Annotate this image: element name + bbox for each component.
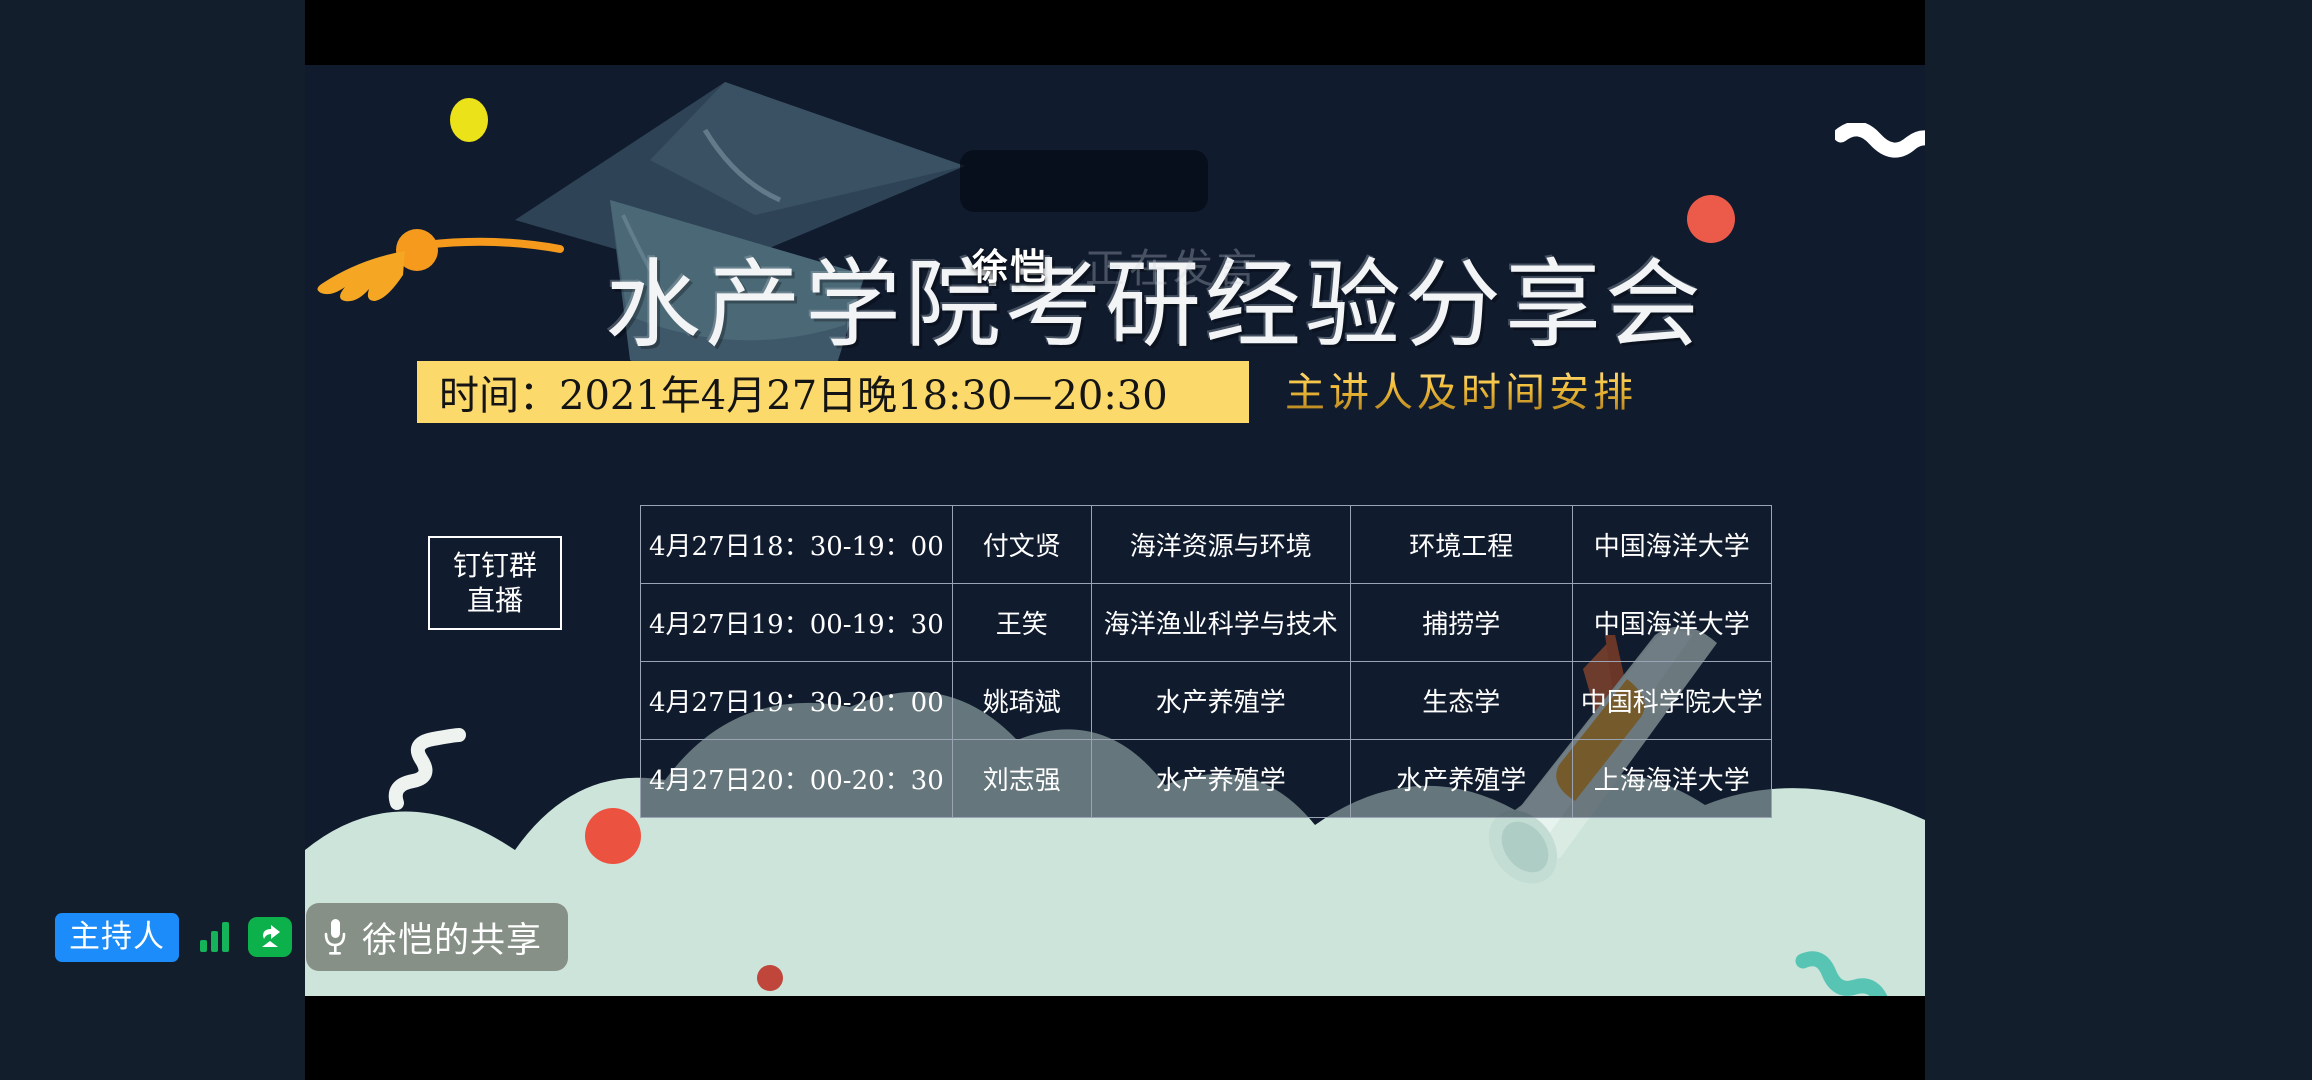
screen-share-status-pill[interactable]: 徐恺的共享 — [306, 903, 568, 971]
schedule-cell-time: 4月27日18：30-19：00 — [641, 506, 953, 584]
schedule-cell-name: 姚琦斌 — [952, 662, 1091, 740]
squiggle-decoration-top-right — [1835, 123, 1925, 183]
screen-share-icon[interactable] — [248, 917, 292, 957]
schedule-cell-name: 刘志强 — [952, 740, 1091, 818]
tassel-icon — [305, 215, 565, 305]
meeting-status-bar: 主持人 徐恺的共享 — [55, 903, 568, 971]
speaking-status-text: 正在发言 — [1085, 236, 1261, 294]
share-owner-label: 徐恺的共享 — [362, 912, 542, 963]
table-row: 4月27日19：30-20：00姚琦斌水产养殖学生态学中国科学院大学 — [641, 662, 1772, 740]
table-row: 4月27日19：00-19：30王笑海洋渔业科学与技术捕捞学中国海洋大学 — [641, 584, 1772, 662]
squiggle-decoration-middle — [385, 725, 475, 815]
schedule-cell-major: 海洋资源与环境 — [1091, 506, 1350, 584]
section-heading: 主讲人及时间安排 — [1285, 360, 1637, 418]
schedule-cell-name: 王笑 — [952, 584, 1091, 662]
time-banner: 时间：2021年4月27日晚18:30—20:30 — [417, 361, 1249, 423]
schedule-cell-name: 付文贤 — [952, 506, 1091, 584]
live-box-line1: 钉钉群 — [453, 548, 537, 583]
live-stream-box: 钉钉群 直播 — [428, 536, 562, 630]
schedule-cell-school: 中国科学院大学 — [1572, 662, 1771, 740]
schedule-cell-field: 水产养殖学 — [1350, 740, 1572, 818]
schedule-cell-major: 水产养殖学 — [1091, 662, 1350, 740]
schedule-cell-field: 捕捞学 — [1350, 584, 1572, 662]
red-dot-decoration-cloud — [585, 808, 641, 864]
schedule-cell-time: 4月27日19：30-20：00 — [641, 662, 953, 740]
schedule-cell-major: 海洋渔业科学与技术 — [1091, 584, 1350, 662]
red-dot-decoration-top — [1687, 195, 1735, 243]
meeting-window: 水产学院考研经验分享会 时间：2021年4月27日晚18:30—20:30 主讲… — [0, 0, 2312, 1080]
speaker-name-label: 徐恺 — [972, 238, 1048, 290]
schedule-cell-time: 4月27日19：00-19：30 — [641, 584, 953, 662]
speaker-name-chip-background — [960, 150, 1208, 212]
host-badge: 主持人 — [55, 913, 179, 962]
table-row: 4月27日18：30-19：00付文贤海洋资源与环境环境工程中国海洋大学 — [641, 506, 1772, 584]
table-row: 4月27日20：00-20：30刘志强水产养殖学水产养殖学上海海洋大学 — [641, 740, 1772, 818]
schedule-table: 4月27日18：30-19：00付文贤海洋资源与环境环境工程中国海洋大学4月27… — [640, 505, 1772, 818]
schedule-cell-time: 4月27日20：00-20：30 — [641, 740, 953, 818]
signal-strength-icon — [200, 922, 229, 952]
schedule-cell-school: 中国海洋大学 — [1572, 584, 1771, 662]
time-banner-text: 时间：2021年4月27日晚18:30—20:30 — [439, 363, 1168, 421]
schedule-cell-school: 中国海洋大学 — [1572, 506, 1771, 584]
live-box-line2: 直播 — [467, 583, 523, 618]
squiggle-decoration-teal — [1795, 945, 1905, 996]
schedule-cell-field: 生态学 — [1350, 662, 1572, 740]
schedule-cell-major: 水产养殖学 — [1091, 740, 1350, 818]
red-dot-decoration-small — [757, 965, 783, 991]
microphone-icon — [322, 917, 348, 957]
schedule-cell-school: 上海海洋大学 — [1572, 740, 1771, 818]
schedule-cell-field: 环境工程 — [1350, 506, 1572, 584]
yellow-dot-decoration — [450, 98, 488, 142]
